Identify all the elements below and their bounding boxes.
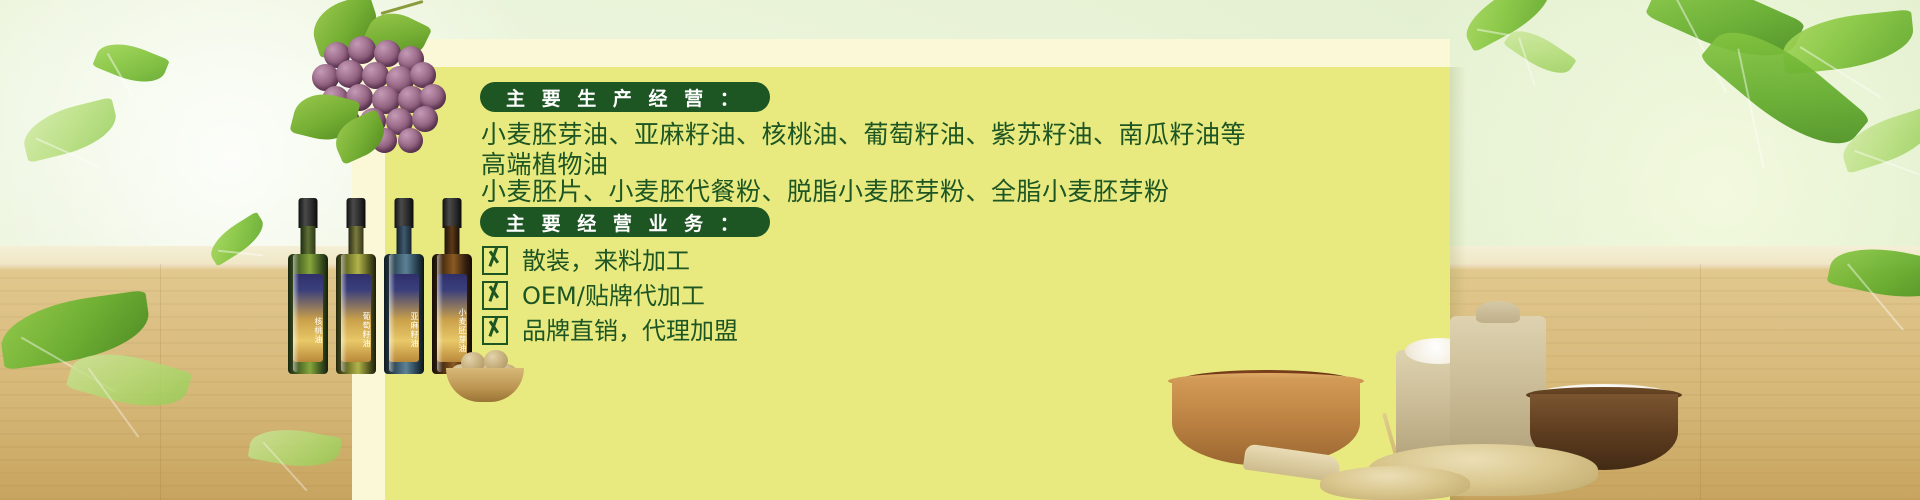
sack-tie xyxy=(1476,301,1520,323)
badge-main-production: 主 要 生 产 经 营 ： xyxy=(480,82,770,112)
production-line-2: 高端植物油 xyxy=(481,150,609,180)
grape-stem xyxy=(380,0,423,15)
bottle-highlight xyxy=(341,254,347,372)
business-item-label: 品牌直销，代理加盟 xyxy=(522,317,738,345)
oil-bottle: 核桃油 xyxy=(288,198,328,388)
wheat-grain-pile xyxy=(1320,466,1470,500)
basket-bowl xyxy=(446,368,524,402)
business-checklist: 散装，来料加工 OEM/贴牌代加工 品牌直销，代理加盟 xyxy=(482,245,738,350)
bottle-highlight xyxy=(293,254,299,372)
bottle-cap xyxy=(395,198,414,228)
bottle-cap xyxy=(443,198,462,228)
business-item-label: 散装，来料加工 xyxy=(522,247,690,275)
badge-main-business: 主 要 经 营 业 务 ： xyxy=(480,207,770,237)
bottle-highlight xyxy=(437,254,443,372)
checkmark-icon xyxy=(482,316,508,345)
bottle-highlight xyxy=(389,254,395,372)
table-plank-seam xyxy=(1700,264,1701,500)
checkmark-icon xyxy=(482,246,508,275)
oil-bottle: 葡萄籽油 xyxy=(336,198,376,388)
list-item: 品牌直销，代理加盟 xyxy=(482,315,738,346)
walnut-basket xyxy=(446,350,524,402)
list-item: 散装，来料加工 xyxy=(482,245,738,276)
production-line-1: 小麦胚芽油、亚麻籽油、核桃油、葡萄籽油、紫苏籽油、南瓜籽油等 xyxy=(481,120,1246,150)
bottle-cap xyxy=(299,198,318,228)
banner-stage: 主 要 生 产 经 营 ： 小麦胚芽油、亚麻籽油、核桃油、葡萄籽油、紫苏籽油、南… xyxy=(0,0,1920,500)
business-item-label: OEM/贴牌代加工 xyxy=(522,282,705,310)
list-item: OEM/贴牌代加工 xyxy=(482,280,738,311)
checkmark-icon xyxy=(482,281,508,310)
bottle-cap xyxy=(347,198,366,228)
production-line-3: 小麦胚片、小麦胚代餐粉、脱脂小麦胚芽粉、全脂小麦胚芽粉 xyxy=(481,177,1170,207)
oil-bottle: 亚麻籽油 xyxy=(384,198,424,388)
grape-cluster xyxy=(272,2,452,152)
